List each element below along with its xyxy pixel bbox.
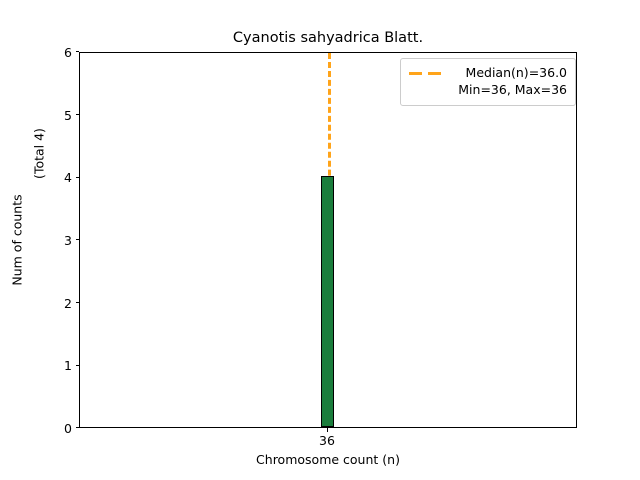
y-tick-label-1: 1: [54, 358, 72, 373]
plot-area: [79, 52, 577, 428]
plot-inner: [80, 53, 576, 427]
chart-legend: Median(n)=36.0 Min=36, Max=36: [400, 58, 576, 106]
y-tick-label-0: 0: [54, 421, 72, 436]
y-tick-label-4: 4: [54, 170, 72, 185]
y-tick-label-6: 6: [54, 45, 72, 60]
chart-figure: Cyanotis sahyadrica Blatt. Num of counts…: [0, 0, 640, 480]
y-axis-label-container: Num of counts: [0, 52, 34, 428]
legend-label-minmax: Min=36, Max=36: [458, 82, 567, 99]
bar-36: [321, 176, 334, 427]
chart-title: Cyanotis sahyadrica Blatt.: [79, 30, 577, 46]
y-tick-label-2: 2: [54, 296, 72, 311]
x-tick-mark-36: [327, 428, 328, 432]
y-tick-label-3: 3: [54, 233, 72, 248]
x-tick-label-36: 36: [319, 433, 335, 448]
y-axis-label: Num of counts: [10, 194, 25, 285]
y-tick-label-5: 5: [54, 108, 72, 123]
legend-dashed-line-icon: [409, 65, 443, 82]
legend-label-median: Median(n)=36.0: [466, 65, 567, 82]
x-axis-label: Chromosome count (n): [79, 452, 577, 467]
legend-text: Median(n)=36.0 Min=36, Max=36: [451, 65, 567, 98]
